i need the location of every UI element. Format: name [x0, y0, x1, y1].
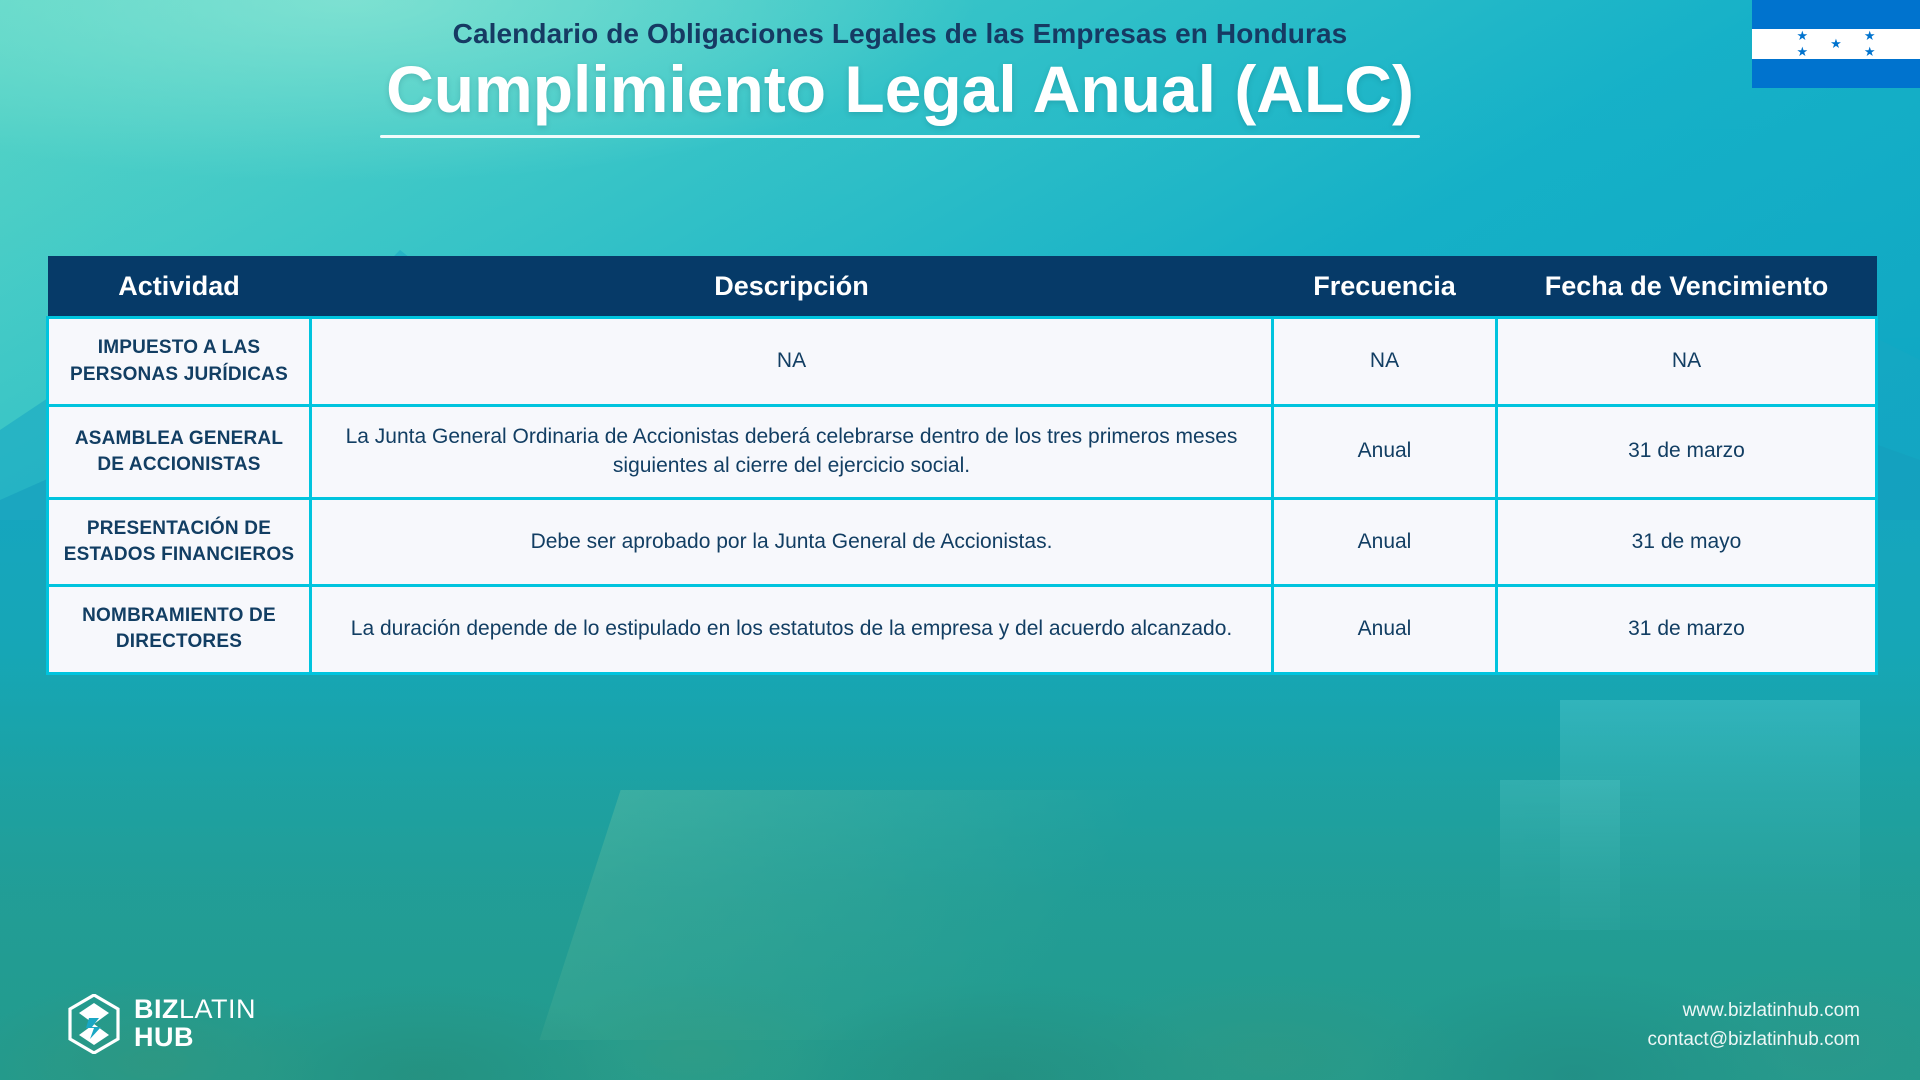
logo-wordmark: BIZLATIN HUB [134, 996, 256, 1051]
cell-vencimiento: 31 de marzo [1497, 586, 1877, 673]
cell-descripcion: NA [311, 318, 1273, 405]
page-header: Calendario de Obligaciones Legales de la… [0, 18, 1920, 138]
cell-actividad: NOMBRAMIENTO DE DIRECTORES [48, 586, 311, 673]
flag-stars: ★★ ★ ★★ [1752, 29, 1920, 58]
cell-actividad: IMPUESTO A LAS PERSONAS JURÍDICAS [48, 318, 311, 405]
table-row: NOMBRAMIENTO DE DIRECTORES La duración d… [48, 586, 1877, 673]
flag-star-column-left: ★★ [1797, 29, 1809, 58]
table-row: PRESENTACIÓN DE ESTADOS FINANCIEROS Debe… [48, 498, 1877, 585]
cell-vencimiento: 31 de marzo [1497, 405, 1877, 498]
logo-biz: BIZ [134, 994, 179, 1024]
page-footer: BIZLATIN HUB www.bizlatinhub.com contact… [0, 930, 1920, 1080]
bizlatinhub-logo: BIZLATIN HUB [68, 994, 256, 1054]
logo-latin: LATIN [179, 994, 256, 1024]
cell-descripcion: Debe ser aprobado por la Junta General d… [311, 498, 1273, 585]
flag-stripe-blue-top [1752, 0, 1920, 29]
cell-descripcion: La Junta General Ordinaria de Accionista… [311, 405, 1273, 498]
table-header-row: Actividad Descripción Frecuencia Fecha d… [48, 256, 1877, 318]
column-header-actividad: Actividad [48, 256, 311, 318]
header-subtitle: Calendario de Obligaciones Legales de la… [0, 18, 1800, 50]
cell-frecuencia: NA [1273, 318, 1497, 405]
table-row: ASAMBLEA GENERAL DE ACCIONISTAS La Junta… [48, 405, 1877, 498]
flag-star-column-middle: ★ [1830, 37, 1842, 50]
table-head: Actividad Descripción Frecuencia Fecha d… [48, 256, 1877, 318]
email-link[interactable]: contact@bizlatinhub.com [1647, 1026, 1860, 1055]
flag-star-column-right: ★★ [1864, 29, 1876, 58]
cell-frecuencia: Anual [1273, 498, 1497, 585]
hexagon-diamond-logo-icon [68, 994, 120, 1054]
flag-stripe-blue-bottom [1752, 59, 1920, 88]
cell-vencimiento: 31 de mayo [1497, 498, 1877, 585]
column-header-frecuencia: Frecuencia [1273, 256, 1497, 318]
logo-hub: HUB [134, 1024, 256, 1052]
column-header-descripcion: Descripción [311, 256, 1273, 318]
page-title: Cumplimiento Legal Anual (ALC) [0, 54, 1800, 125]
table-body: IMPUESTO A LAS PERSONAS JURÍDICAS NA NA … [48, 318, 1877, 673]
title-underline-rule [380, 135, 1420, 138]
cell-frecuencia: Anual [1273, 405, 1497, 498]
honduras-flag: ★★ ★ ★★ [1752, 0, 1920, 88]
cell-frecuencia: Anual [1273, 586, 1497, 673]
obligations-table-wrapper: Actividad Descripción Frecuencia Fecha d… [46, 256, 1875, 675]
obligations-table: Actividad Descripción Frecuencia Fecha d… [46, 256, 1878, 675]
logo-line-one: BIZLATIN [134, 996, 256, 1024]
table-row: IMPUESTO A LAS PERSONAS JURÍDICAS NA NA … [48, 318, 1877, 405]
cell-descripcion: La duración depende de lo estipulado en … [311, 586, 1273, 673]
flag-stripe-white: ★★ ★ ★★ [1752, 29, 1920, 58]
column-header-vencimiento: Fecha de Vencimiento [1497, 256, 1877, 318]
cell-actividad: ASAMBLEA GENERAL DE ACCIONISTAS [48, 405, 311, 498]
cell-vencimiento: NA [1497, 318, 1877, 405]
contact-info: www.bizlatinhub.com contact@bizlatinhub.… [1647, 997, 1860, 1054]
cell-actividad: PRESENTACIÓN DE ESTADOS FINANCIEROS [48, 498, 311, 585]
website-link[interactable]: www.bizlatinhub.com [1647, 997, 1860, 1026]
